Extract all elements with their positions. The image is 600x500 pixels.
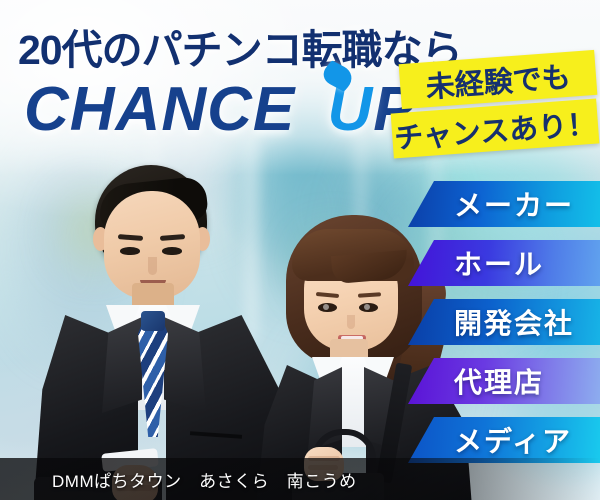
category-label: メーカー bbox=[454, 184, 574, 224]
woman-nose bbox=[347, 315, 355, 329]
man-eyebrow-right bbox=[160, 234, 185, 241]
category-button-maker[interactable]: メーカー bbox=[408, 181, 600, 227]
man-eye-left bbox=[120, 247, 140, 255]
man-nose bbox=[148, 257, 157, 275]
woman-fringe bbox=[292, 229, 414, 281]
woman-eye-left bbox=[318, 303, 337, 312]
category-button-media[interactable]: メディア bbox=[408, 417, 600, 463]
category-button-hall[interactable]: ホール bbox=[408, 240, 600, 286]
logo-up-group: U bbox=[327, 75, 373, 144]
category-label: メディア bbox=[454, 420, 572, 460]
page-title: 20代のパチンコ転職なら bbox=[18, 16, 462, 76]
caption-bar: DMMぱちタウン あさくら 南こうめ bbox=[0, 458, 600, 500]
chance-up-logo: CHANCE UP bbox=[24, 74, 416, 145]
man-tie-knot bbox=[141, 311, 165, 331]
logo-main-text: CHANCE bbox=[24, 75, 313, 144]
category-label: 開発会社 bbox=[454, 302, 574, 342]
man-lapel-right bbox=[164, 317, 206, 413]
category-label: ホール bbox=[454, 243, 544, 283]
businessman-photo bbox=[40, 165, 290, 500]
man-eyebrow-left bbox=[118, 234, 143, 241]
woman-eyebrow-left bbox=[316, 292, 339, 298]
category-button-agency[interactable]: 代理店 bbox=[408, 358, 600, 404]
category-button-development-company[interactable]: 開発会社 bbox=[408, 299, 600, 345]
man-eye-right bbox=[162, 247, 182, 255]
man-striped-necktie bbox=[138, 317, 168, 437]
category-label: 代理店 bbox=[454, 361, 544, 401]
woman-eyebrow-right bbox=[358, 292, 381, 298]
badge-label: 未経験でも bbox=[424, 53, 572, 106]
caption-text: DMMぱちタウン あさくら 南こうめ bbox=[52, 467, 357, 492]
woman-eye-right bbox=[359, 303, 378, 312]
man-lapel-left bbox=[102, 317, 142, 413]
chance-up-banner-ad[interactable]: 20代のパチンコ転職なら CHANCE UP 未経験でも チャンスあり！ メーカ… bbox=[0, 0, 600, 500]
